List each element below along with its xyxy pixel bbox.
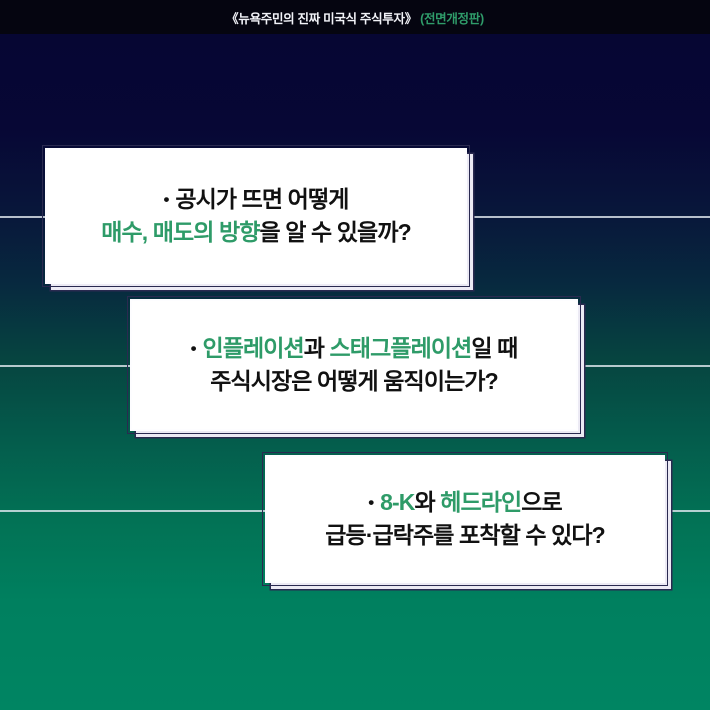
text-run-2: 와 — [414, 489, 440, 515]
book-title-text: 《뉴욕주민의 진짜 미국식 주식투자》 — [226, 12, 417, 26]
text-run-2: 과 — [304, 335, 330, 361]
card-3-line-2: 급등·급락주를 포착할 수 있다? — [325, 519, 605, 552]
text-run-1: 주식시장은 어떻게 움직이는가? — [210, 368, 498, 394]
page-title: 《뉴욕주민의 진짜 미국식 주식투자》 (전면개정판) — [226, 8, 484, 27]
text-run-1: 인플레이션 — [202, 335, 303, 361]
text-run-2: 을 알 수 있을까? — [260, 219, 411, 245]
card-2-line-1: • 인플레이션과 스태그플레이션일 때 — [191, 332, 518, 365]
card-2-line-2: 주식시장은 어떻게 움직이는가? — [210, 365, 498, 398]
text-run-4: 일 때 — [471, 335, 517, 361]
text-run-1: 급등·급락주를 포착할 수 있다? — [325, 522, 605, 548]
bullet-icon: • — [164, 190, 176, 209]
card-3-line-1: • 8-K와 헤드라인으로 — [368, 486, 562, 519]
question-card-2: • 인플레이션과 스태그플레이션일 때 주식시장은 어떻게 움직이는가? — [130, 299, 578, 431]
text-run-1: 8-K — [380, 489, 414, 515]
bullet-icon: • — [368, 493, 380, 512]
header-bar: 《뉴욕주민의 진짜 미국식 주식투자》 (전면개정판) — [0, 0, 710, 34]
text-run-1: 공시가 뜨면 어떻게 — [175, 186, 348, 212]
question-card-1: • 공시가 뜨면 어떻게 매수, 매도의 방향을 알 수 있을까? — [45, 148, 467, 284]
card-1-line-2: 매수, 매도의 방향을 알 수 있을까? — [101, 216, 410, 249]
text-run-1: 매수, 매도의 방향 — [101, 219, 259, 245]
text-run-4: 으로 — [521, 489, 562, 515]
slide-canvas: 《뉴욕주민의 진짜 미국식 주식투자》 (전면개정판) • 공시가 뜨면 어떻게… — [0, 0, 710, 710]
card-1-line-1: • 공시가 뜨면 어떻게 — [164, 183, 349, 216]
question-card-3: • 8-K와 헤드라인으로 급등·급락주를 포착할 수 있다? — [265, 455, 665, 583]
edition-label: (전면개정판) — [417, 12, 484, 26]
bullet-icon: • — [191, 339, 203, 358]
text-run-3: 스태그플레이션 — [330, 335, 472, 361]
text-run-3: 헤드라인 — [440, 489, 521, 515]
